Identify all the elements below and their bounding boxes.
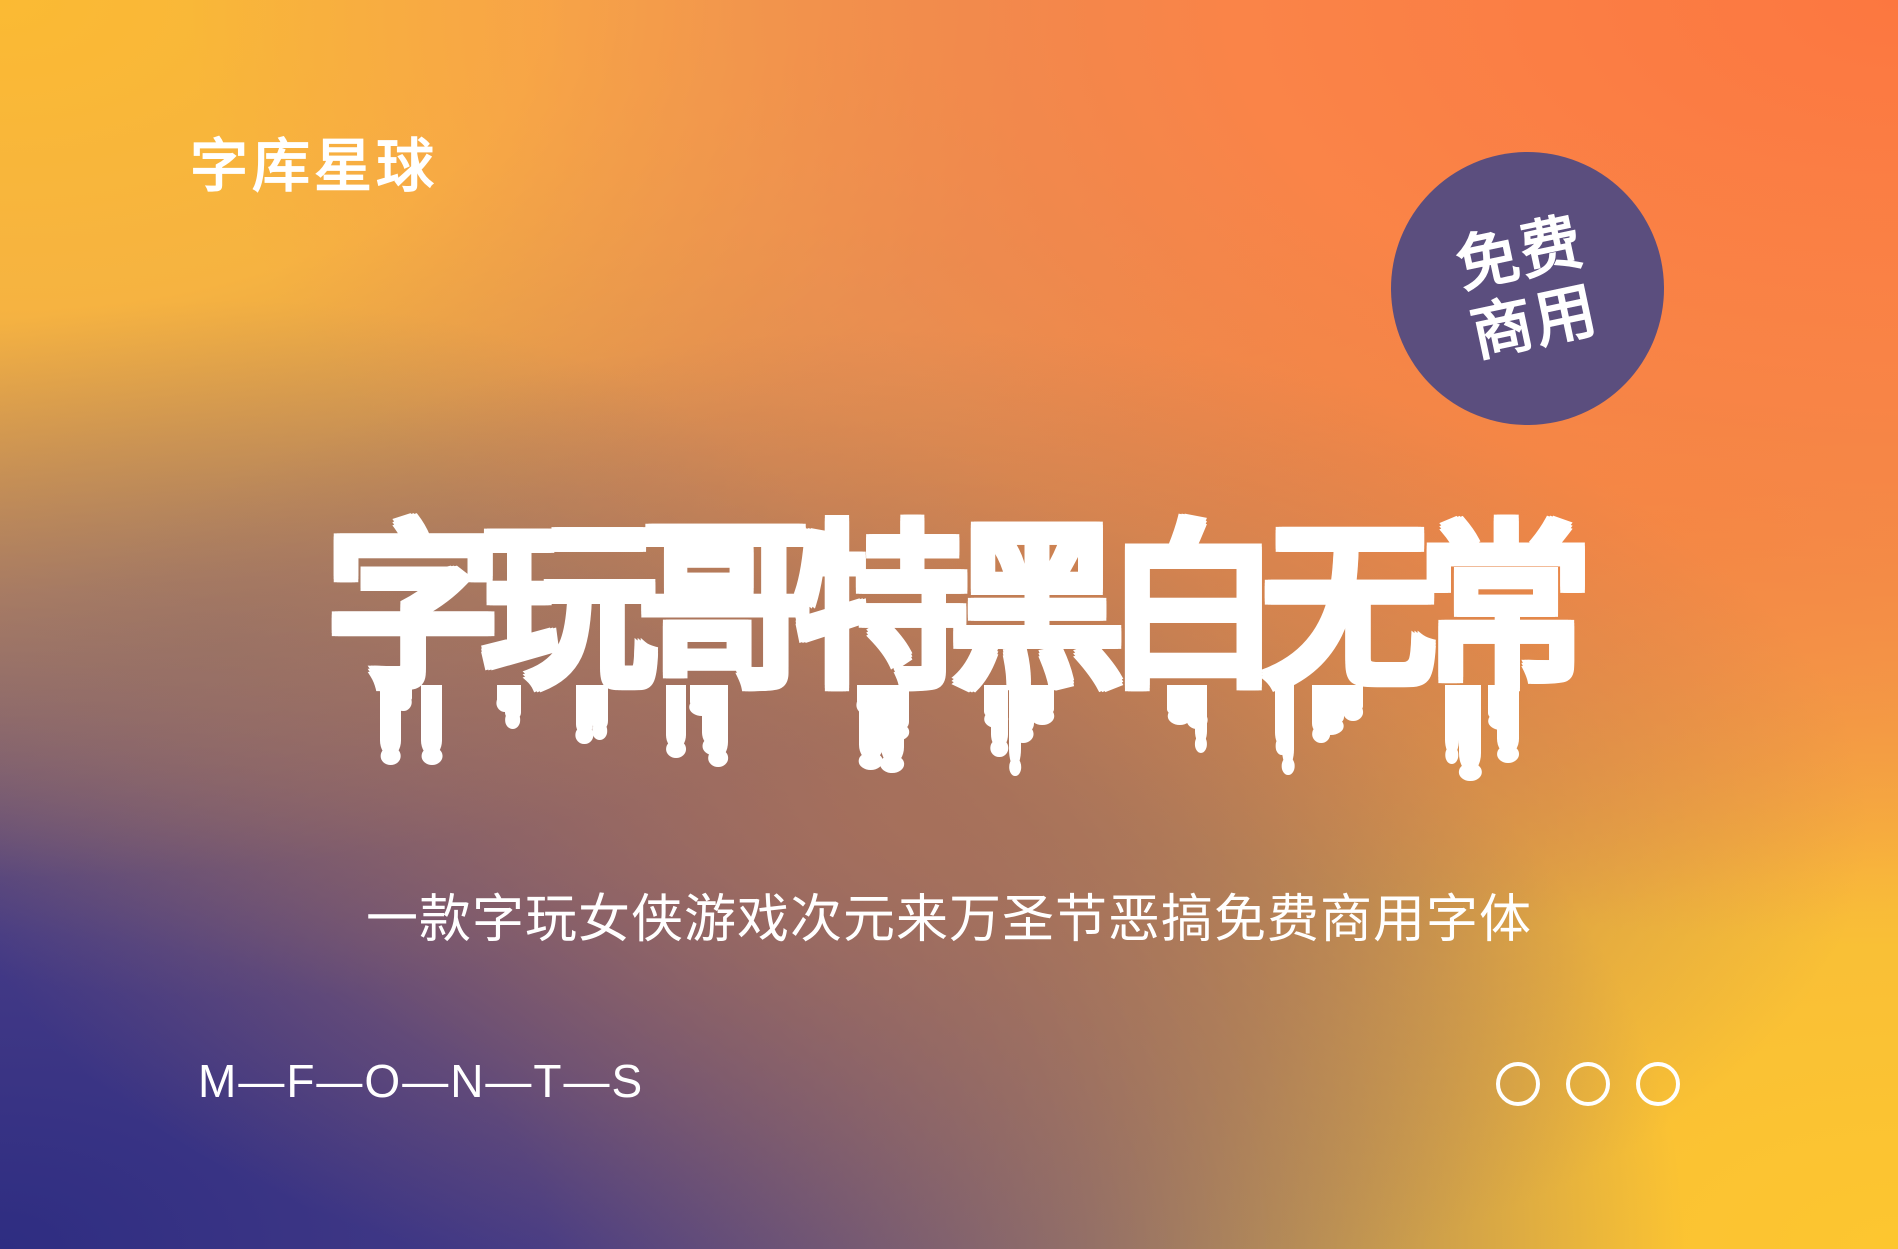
title-glyph: 无 [1263,515,1415,697]
title-glyph-char: 特 [793,515,948,704]
title-glyph: 字 [327,515,479,697]
main-title-container: 字玩哥特黑白无常 [0,515,1898,815]
poster-canvas: 字库星球 免费 商用 字玩哥特黑白无常 一款字玩女侠游戏次元来万圣节恶搞免费商用… [0,0,1898,1249]
footer-dot-group [1496,1062,1680,1106]
title-glyph-char: 哥 [637,515,792,704]
title-glyph: 哥 [639,515,791,697]
title-glyph-char: 黑 [949,515,1104,704]
title-glyph-char: 白 [1105,515,1260,704]
title-glyph-char: 无 [1261,515,1416,704]
subtitle-text: 一款字玩女侠游戏次元来万圣节恶搞免费商用字体 [0,888,1898,953]
title-glyph: 特 [795,515,947,697]
title-glyph-char: 玩 [481,515,636,704]
circle-outline-icon [1636,1062,1680,1106]
title-glyph-char: 常 [1417,515,1572,704]
circle-outline-icon [1496,1062,1540,1106]
brand-logo: 字库星球 [190,138,438,196]
circle-outline-icon [1566,1062,1610,1106]
title-glyph: 常 [1419,515,1571,697]
footer-brand-text: M—F—O—N—T—S [198,1054,644,1108]
title-glyph: 玩 [483,515,635,697]
title-glyph-char: 字 [325,515,480,704]
main-title: 字玩哥特黑白无常 [325,515,1573,697]
title-glyph: 白 [1107,515,1259,697]
title-glyph: 黑 [951,515,1103,697]
